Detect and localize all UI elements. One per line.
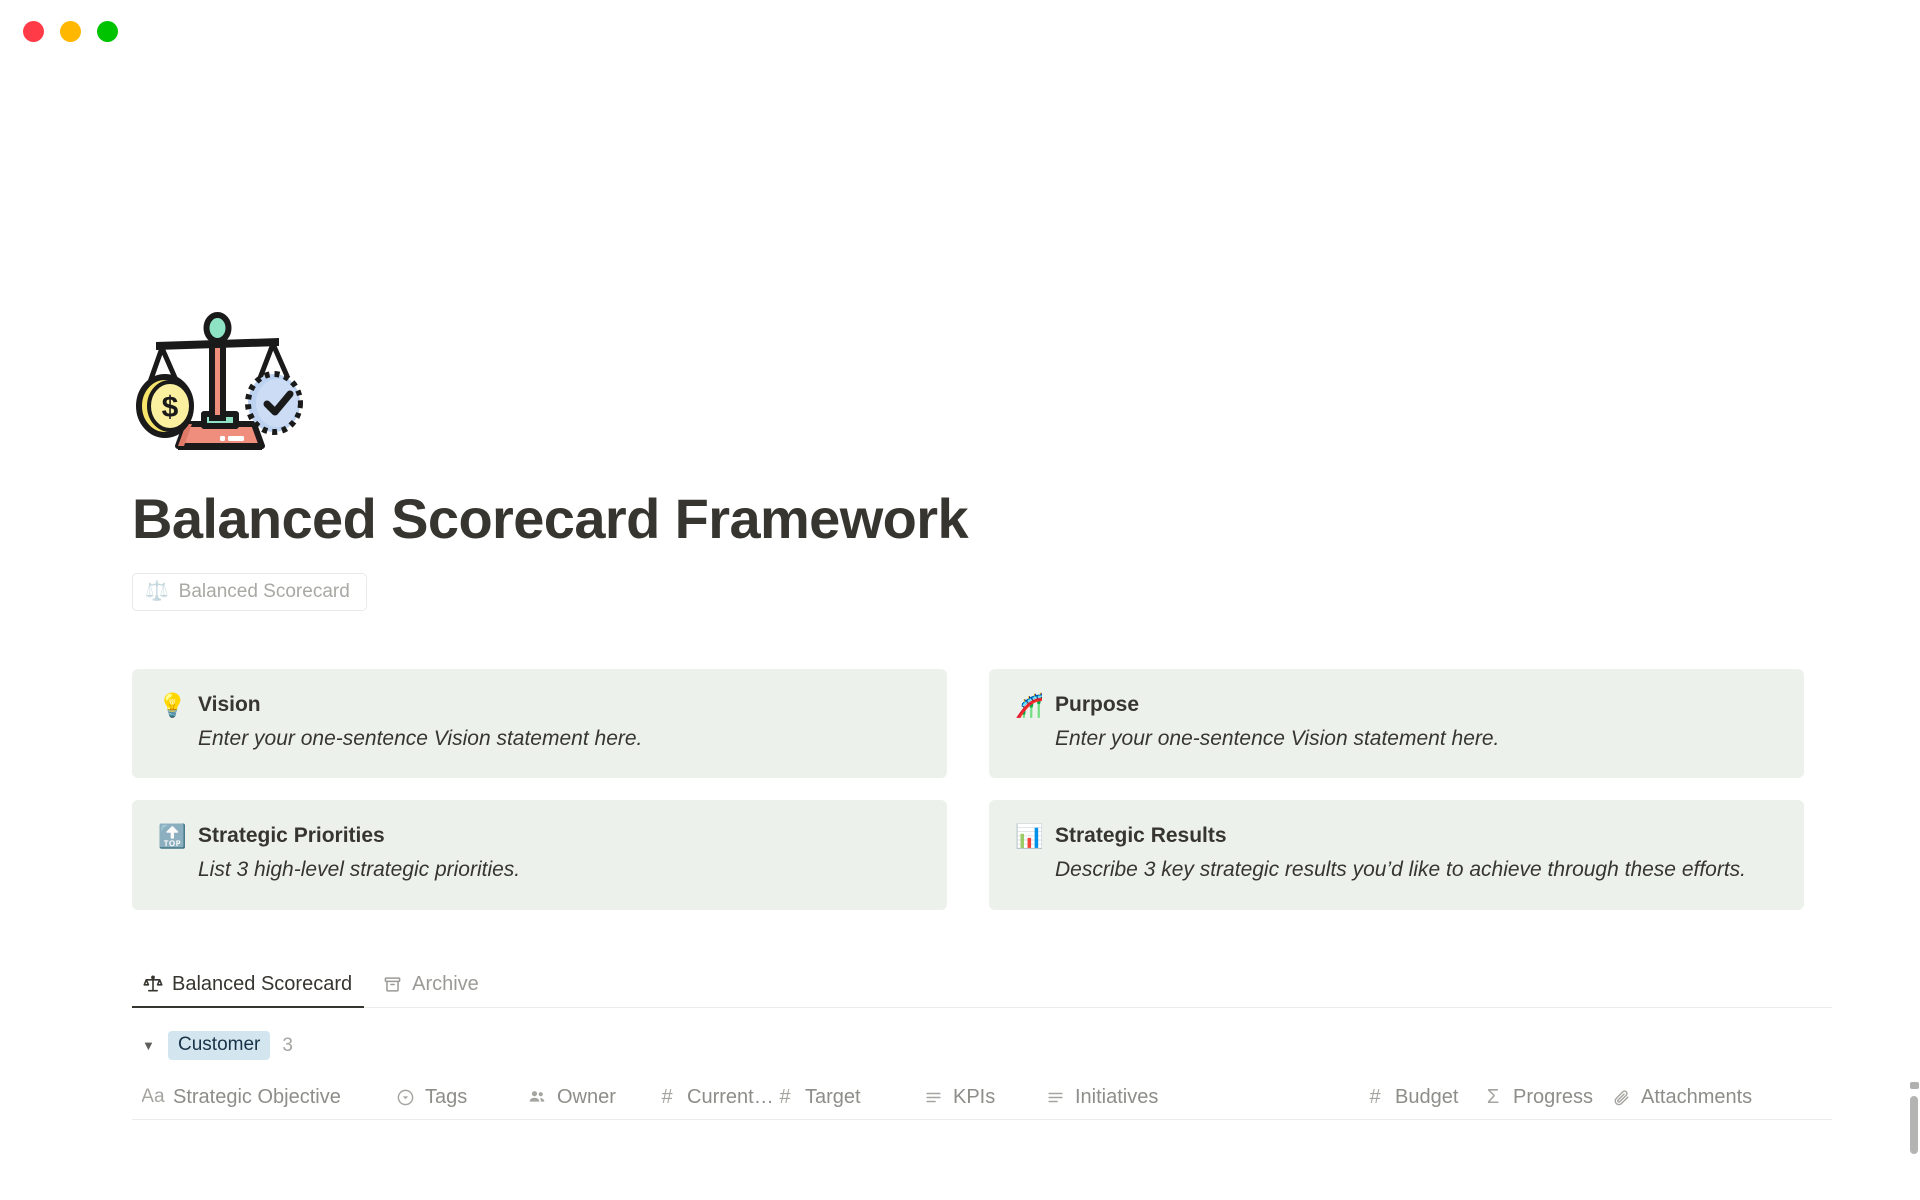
callout-description-purpose[interactable]: Enter your one-sentence Vision statement… [1055, 724, 1778, 754]
column-label-progress: Progress [1513, 1086, 1593, 1109]
lightbulb-icon: 💡 [158, 691, 184, 719]
svg-text:$: $ [162, 391, 179, 424]
column-label-strategic-objective: Strategic Objective [173, 1086, 341, 1109]
callout-description-vision[interactable]: Enter your one-sentence Vision statement… [198, 724, 921, 754]
scale-icon: ⚖️ [145, 582, 169, 601]
group-count: 3 [282, 1035, 293, 1057]
page-content: $ Balanced Scorecard Framework ⚖️ Balanc… [0, 62, 1920, 1200]
scale-icon [142, 974, 163, 995]
column-label-budget: Budget [1395, 1086, 1458, 1109]
callout-card-strategic-results[interactable]: 📊 Strategic Results Describe 3 key strat… [989, 800, 1804, 909]
column-label-tags: Tags [425, 1086, 467, 1109]
person-property-icon [526, 1086, 548, 1108]
text-property-icon [922, 1086, 944, 1108]
column-header-budget[interactable]: # Budget [1364, 1086, 1482, 1109]
content-container: $ Balanced Scorecard Framework ⚖️ Balanc… [130, 298, 1830, 1120]
callout-title-vision: Vision [198, 691, 921, 719]
callout-description-strategic-results[interactable]: Describe 3 key strategic results you’d l… [1055, 855, 1778, 885]
column-label-attachments: Attachments [1641, 1086, 1752, 1109]
text-property-icon [1044, 1086, 1066, 1108]
number-property-icon: # [656, 1086, 678, 1108]
breadcrumb-tag-chip[interactable]: ⚖️ Balanced Scorecard [132, 573, 367, 611]
title-property-icon: Aa [142, 1086, 164, 1108]
column-header-progress[interactable]: Σ Progress [1482, 1086, 1610, 1109]
callout-card-purpose[interactable]: 🎢 Purpose Enter your one-sentence Vision… [989, 669, 1804, 778]
archive-icon [382, 974, 403, 995]
column-header-current[interactable]: # Current… [656, 1086, 774, 1109]
ranking-list-icon: 🔝 [158, 822, 184, 850]
callout-title-purpose: Purpose [1055, 691, 1778, 719]
vertical-scrollbar[interactable] [1907, 62, 1920, 1200]
tab-label-archive: Archive [412, 973, 479, 996]
breadcrumb-tag-label: Balanced Scorecard [179, 581, 350, 603]
column-header-attachments[interactable]: Attachments [1610, 1086, 1830, 1109]
close-window-button[interactable] [23, 21, 44, 42]
column-label-owner: Owner [557, 1086, 616, 1109]
callout-card-vision[interactable]: 💡 Vision Enter your one-sentence Vision … [132, 669, 947, 778]
window-titlebar [0, 0, 1920, 62]
database-view-tabs: Balanced Scorecard Archive [132, 962, 1832, 1008]
column-header-owner[interactable]: Owner [526, 1086, 656, 1109]
traffic-light-group [23, 21, 118, 42]
zoom-window-button[interactable] [97, 21, 118, 42]
chart-window-icon: 📊 [1015, 822, 1041, 850]
column-label-kpis: KPIs [953, 1086, 995, 1109]
chevron-down-icon[interactable]: ▼ [142, 1039, 156, 1052]
group-header-customer[interactable]: ▼ Customer 3 [132, 1030, 1830, 1062]
callout-card-grid: 💡 Vision Enter your one-sentence Vision … [132, 669, 1830, 910]
page-title[interactable]: Balanced Scorecard Framework [132, 488, 1830, 551]
column-header-strategic-objective[interactable]: Aa Strategic Objective [142, 1086, 394, 1109]
attachment-property-icon [1610, 1086, 1632, 1108]
balance-scale-icon[interactable]: $ [132, 298, 308, 474]
column-label-current: Current… [687, 1086, 774, 1109]
scrollbar-thumb[interactable] [1910, 1096, 1918, 1154]
callout-card-strategic-priorities[interactable]: 🔝 Strategic Priorities List 3 high-level… [132, 800, 947, 909]
formula-property-icon: Σ [1482, 1086, 1504, 1108]
column-header-target[interactable]: # Target [774, 1086, 922, 1109]
tab-label-balanced-scorecard: Balanced Scorecard [172, 973, 352, 996]
select-property-icon [394, 1086, 416, 1108]
table-column-header-row: Aa Strategic Objective Tags [132, 1076, 1832, 1120]
scrollbar-cap [1910, 1082, 1919, 1089]
column-header-kpis[interactable]: KPIs [922, 1086, 1044, 1109]
callout-title-strategic-priorities: Strategic Priorities [198, 822, 921, 850]
tab-archive[interactable]: Archive [372, 973, 491, 1007]
column-header-initiatives[interactable]: Initiatives [1044, 1086, 1364, 1109]
tab-balanced-scorecard[interactable]: Balanced Scorecard [132, 973, 364, 1007]
column-header-tags[interactable]: Tags [394, 1086, 526, 1109]
minimize-window-button[interactable] [60, 21, 81, 42]
column-label-target: Target [805, 1086, 861, 1109]
callout-title-strategic-results: Strategic Results [1055, 822, 1778, 850]
column-label-initiatives: Initiatives [1075, 1086, 1158, 1109]
number-property-icon: # [1364, 1086, 1386, 1108]
group-label-customer[interactable]: Customer [168, 1031, 270, 1061]
callout-description-strategic-priorities[interactable]: List 3 high-level strategic priorities. [198, 855, 921, 885]
compass-icon: 🎢 [1015, 691, 1041, 719]
number-property-icon: # [774, 1086, 796, 1108]
